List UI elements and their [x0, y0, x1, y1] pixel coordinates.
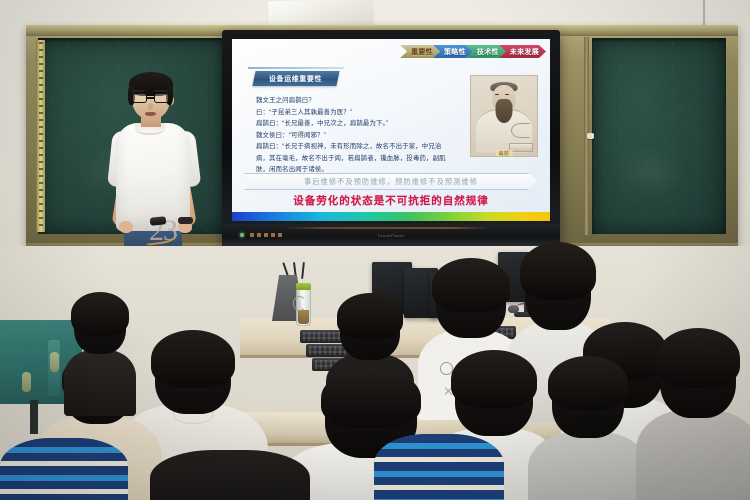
student-row	[636, 330, 750, 500]
bottle-handle-ring	[293, 296, 306, 311]
slide-text-line: 病，其在毫毛，故名不出于闾，若扁鹊者，镵血脉，投毒药，副肌	[256, 153, 456, 165]
slide-text-line: 曰：“子昆弟三人其孰最善为医？”	[256, 107, 456, 119]
student-hair	[432, 258, 510, 312]
presenter-wristwatch	[178, 217, 193, 224]
classroom-photo: 重要性 策略性 技术性 未来发展 设备运维	[0, 0, 750, 500]
bianque-portrait-image: 扁鹊	[470, 75, 538, 157]
tv-control-buttons[interactable]	[250, 233, 284, 237]
student-hair	[656, 328, 740, 388]
tv-ir-strip	[282, 227, 492, 229]
portrait-eye	[505, 94, 509, 96]
student-row	[528, 356, 648, 500]
student-torso	[0, 438, 128, 500]
board-track-ticks	[39, 42, 43, 230]
portrait-arm	[511, 123, 530, 138]
nav-chevron-label: 重要性	[411, 47, 433, 57]
board-knob[interactable]	[587, 133, 594, 139]
slide-text-line: 扁鹊曰：“长兄最善，中兄次之，扁鹊最为下。”	[256, 118, 456, 130]
striped-shirt-pattern	[374, 434, 504, 500]
slide-text-line: 魏文侯曰：“可得闻邪？”	[256, 130, 456, 142]
chalk-texture	[592, 38, 726, 234]
slide-text-line: 扁鹊曰：“长兄于病视神，未有形而除之，故名不出于家，中兄治	[256, 141, 456, 153]
slide-headline: 设备劳化的状态是不可抗拒的自然规律	[293, 195, 489, 207]
portrait-desk	[509, 143, 533, 152]
presenter-hand-left	[119, 221, 133, 233]
glasses-lens	[132, 93, 147, 103]
nav-chevron-label: 策略性	[444, 47, 466, 57]
striped-shirt-pattern	[0, 438, 128, 500]
presenter-eyebrow	[132, 90, 145, 92]
bottle-cap[interactable]	[296, 283, 311, 290]
power-led-icon	[240, 233, 244, 237]
slide-body: 重要性 策略性 技术性 未来发展 设备运维	[232, 39, 550, 212]
bag-handle	[301, 262, 305, 279]
slide-footer-gradient-bar	[232, 212, 550, 221]
slide-section-nav: 重要性 策略性 技术性 未来发展	[407, 45, 546, 58]
presenter: 23	[106, 75, 202, 275]
flat-panel-tv[interactable]: 重要性 策略性 技术性 未来发展 设备运维	[222, 30, 560, 246]
slide-body-text: 魏文王之问扁鹊曰？ 曰：“子昆弟三人其孰最善为医？” 扁鹊曰：“长兄最善，中兄次…	[256, 95, 456, 176]
presenter-eyebrow	[154, 90, 167, 92]
student-torso	[636, 410, 750, 500]
wall-poster-sheet	[268, 0, 374, 27]
student-hair	[548, 356, 628, 410]
slide-headline-wrap: 设备劳化的状态是不可抗拒的自然规律	[232, 191, 550, 209]
student-torso	[528, 432, 648, 500]
slide-title: 设备运维重要性	[269, 74, 322, 84]
presentation-clicker[interactable]	[150, 216, 167, 226]
glasses-lens	[154, 93, 169, 103]
chalk-smudge	[616, 146, 686, 197]
tea-leaves	[298, 310, 309, 324]
student-hair	[520, 242, 596, 300]
slide-text-line: 魏文王之问扁鹊曰？	[256, 95, 456, 107]
student-hair	[71, 292, 129, 336]
nav-chevron-importance[interactable]: 重要性	[400, 45, 440, 58]
slide-maintenance-banner: 事后维修不及预防维修，预防维修不及预测维修	[244, 173, 538, 190]
student-row	[150, 430, 310, 500]
student-torso	[150, 450, 310, 500]
presenter-tshirt: 23	[116, 123, 190, 231]
tv-screen: 重要性 策略性 技术性 未来发展 设备运维	[232, 39, 550, 221]
chair-tag	[22, 372, 31, 392]
nav-chevron-label: 技术性	[477, 47, 499, 57]
tv-brand-label: TouchPanel	[378, 233, 405, 238]
student-row	[0, 398, 128, 500]
slide-banner-text: 事后维修不及预防维修，预防维修不及预测维修	[304, 177, 478, 187]
slide-title-rule	[248, 67, 344, 69]
glasses-bridge	[147, 97, 155, 99]
student-hair	[337, 293, 403, 339]
portrait-beard	[496, 99, 513, 123]
student-row	[374, 382, 504, 500]
student-row	[64, 294, 136, 404]
presentation-slide: 重要性 策略性 技术性 未来发展 设备运维	[232, 39, 550, 221]
slide-title-banner: 设备运维重要性	[252, 71, 339, 86]
presenter-mouth	[145, 112, 156, 116]
portrait-eye	[495, 94, 499, 96]
chalkboard-panel-right	[592, 38, 726, 234]
portrait-caption: 扁鹊	[496, 150, 513, 157]
presenter-nose	[148, 103, 153, 110]
nav-chevron-future[interactable]: 未来发展	[499, 45, 546, 58]
student-torso	[374, 434, 504, 500]
student-hair	[151, 330, 235, 388]
nav-chevron-label: 未来发展	[510, 47, 539, 57]
